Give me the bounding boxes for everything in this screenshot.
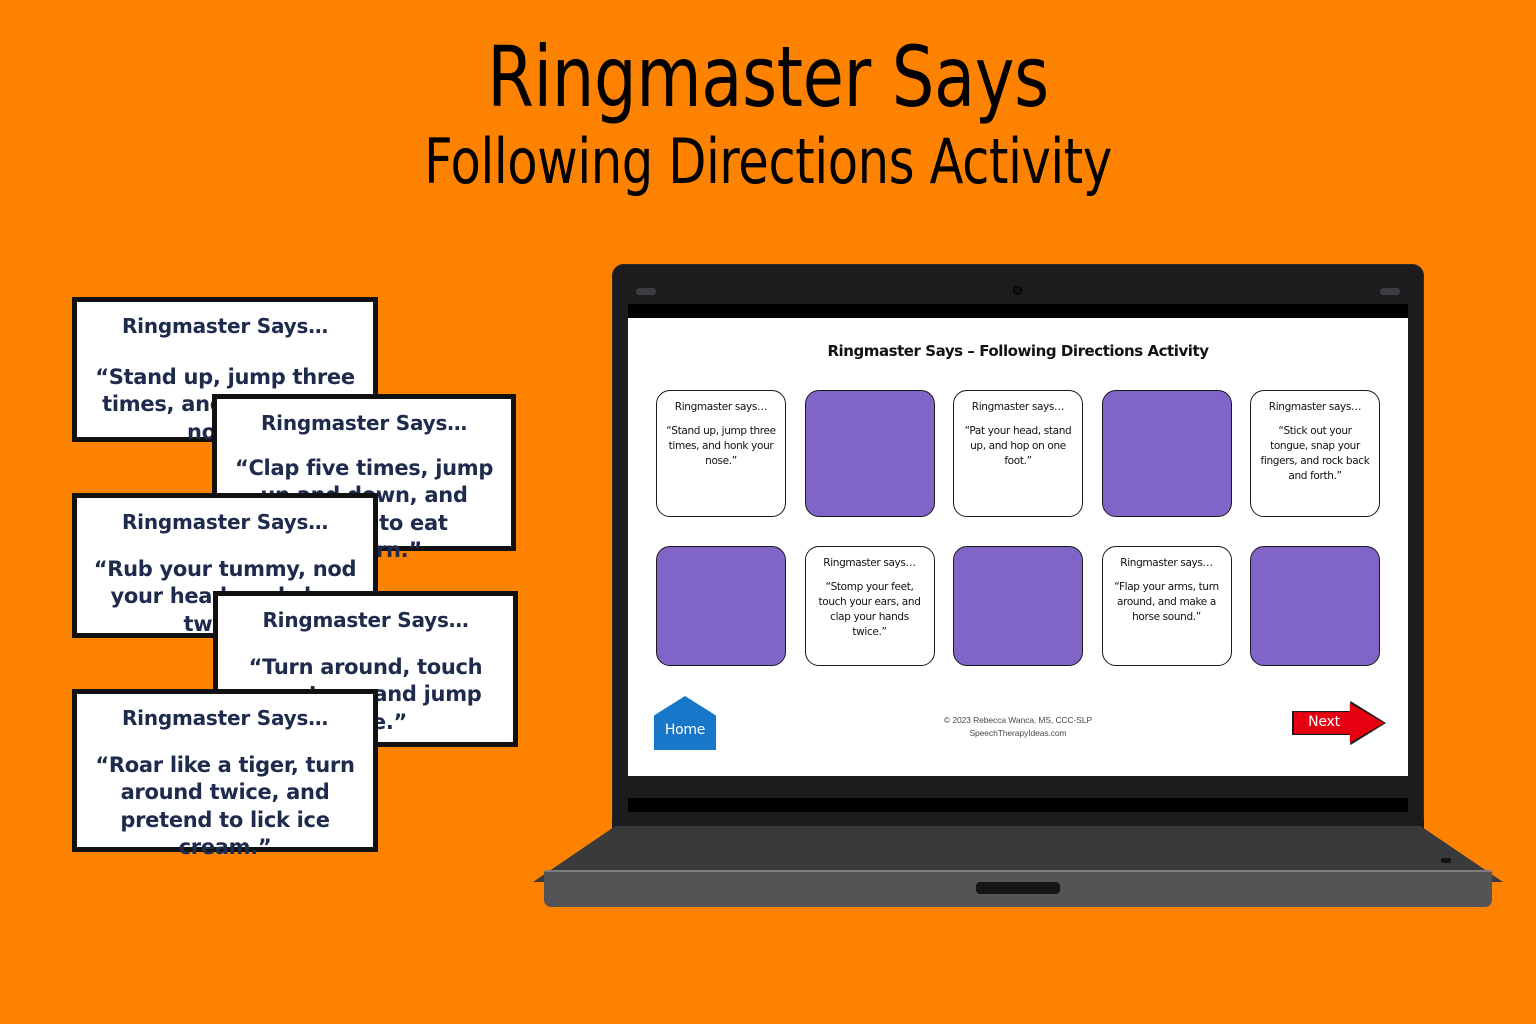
slide-title: Ringmaster Says – Following Directions A… [628,342,1408,360]
activity-tile[interactable]: Ringmaster says… “Flap your arms, turn a… [1102,546,1232,666]
activity-tile[interactable]: Ringmaster says… “Stick out your tongue,… [1250,390,1380,517]
speaker-nub-icon [636,288,656,295]
tile-row: Ringmaster says… “Stand up, jump three t… [656,390,1380,517]
flashcard-heading: Ringmaster Says… [234,608,497,632]
credit-line-2: SpeechTherapyIdeas.com [628,727,1408,740]
laptop-lid: Ringmaster Says – Following Directions A… [612,264,1424,830]
tile-body: “Stomp your feet, touch your ears, and c… [814,580,926,640]
flashcard-body: “Roar like a tiger, turn around twice, a… [93,752,357,861]
activity-tile-covered[interactable] [953,546,1083,666]
laptop-screen: Ringmaster Says – Following Directions A… [628,318,1408,776]
tile-body: “Flap your arms, turn around, and make a… [1111,580,1223,625]
slide-canvas: Ringmaster Says – Following Directions A… [628,318,1408,776]
activity-tile-covered[interactable] [656,546,786,666]
laptop-latch-notch [976,882,1060,894]
tile-body: “Stick out your tongue, snap your finger… [1259,424,1371,484]
tile-row: Ringmaster says… “Stomp your feet, touch… [656,546,1380,666]
laptop-mockup: Ringmaster Says – Following Directions A… [533,264,1503,879]
tile-heading: Ringmaster says… [972,401,1064,413]
tile-body: “Stand up, jump three times, and honk yo… [665,424,777,469]
tile-heading: Ringmaster says… [823,557,915,569]
screen-bottom-strip [628,798,1408,812]
tile-heading: Ringmaster says… [1120,557,1212,569]
copyright-credit: © 2023 Rebecca Wanca, MS, CCC-SLP Speech… [628,714,1408,740]
laptop-port-icon [1441,858,1451,863]
activity-tile-covered[interactable] [805,390,935,517]
activity-tile[interactable]: Ringmaster says… “Stomp your feet, touch… [805,546,935,666]
flashcard-heading: Ringmaster Says… [93,510,357,534]
speaker-nub-icon [1380,288,1400,295]
activity-tile-covered[interactable] [1250,546,1380,666]
activity-tile-covered[interactable] [1102,390,1232,517]
flashcard-heading: Ringmaster Says… [93,314,357,338]
credit-line-1: © 2023 Rebecca Wanca, MS, CCC-SLP [628,714,1408,727]
tile-body: “Pat your head, stand up, and hop on one… [962,424,1074,469]
camera-icon [1013,286,1022,295]
activity-tile[interactable]: Ringmaster says… “Pat your head, stand u… [953,390,1083,517]
tile-heading: Ringmaster says… [1269,401,1361,413]
flashcard[interactable]: Ringmaster Says… “Roar like a tiger, tur… [72,689,378,852]
tile-heading: Ringmaster says… [675,401,767,413]
flashcard-stack: Ringmaster Says… “Stand up, jump three t… [0,0,560,1024]
flashcard-heading: Ringmaster Says… [233,411,495,435]
flashcard-heading: Ringmaster Says… [93,706,357,730]
poster-canvas: Ringmaster Says Following Directions Act… [0,0,1536,1024]
activity-tile[interactable]: Ringmaster says… “Stand up, jump three t… [656,390,786,517]
